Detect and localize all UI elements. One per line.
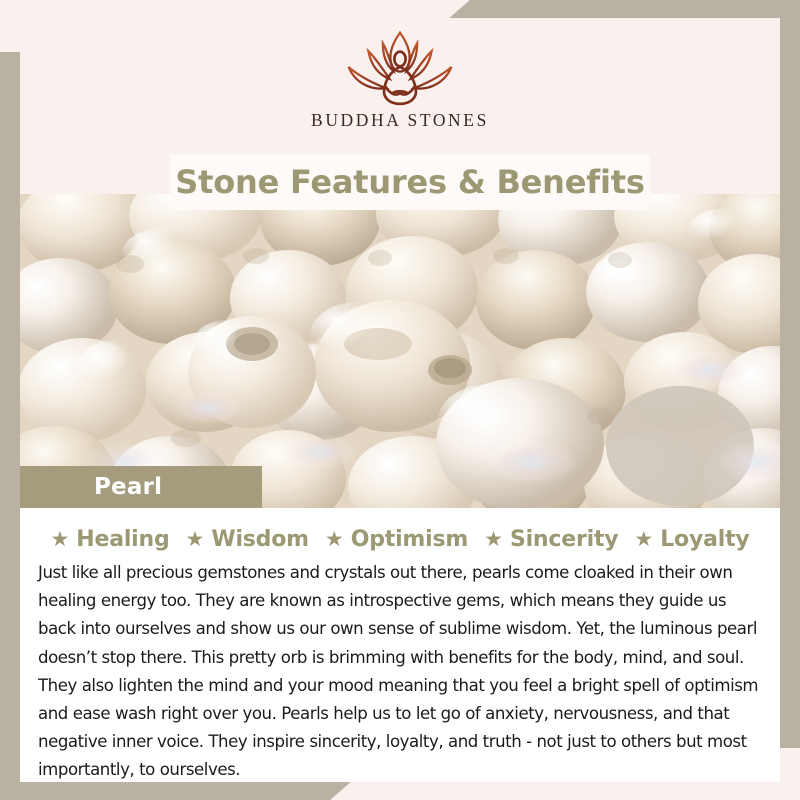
benefits-list: ★ Healing ★ Wisdom ★ Optimism ★ Sincerit… — [36, 522, 764, 556]
stone-photo: Pearl — [20, 194, 780, 508]
infographic-card: BUDDHA STONES Stone Features & Benefits — [0, 0, 800, 800]
card-body: BUDDHA STONES Stone Features & Benefits — [20, 18, 780, 782]
content-sheet: ★ Healing ★ Wisdom ★ Optimism ★ Sincerit… — [20, 508, 780, 782]
stone-description: Just like all precious gemstones and cry… — [36, 559, 764, 782]
brand-header: BUDDHA STONES — [20, 18, 780, 146]
star-icon: ★ — [50, 529, 69, 550]
benefit-item: ★ Healing — [44, 527, 175, 552]
page-title: Stone Features & Benefits — [175, 163, 644, 201]
star-icon: ★ — [634, 529, 653, 550]
page-title-plate: Stone Features & Benefits — [170, 154, 650, 210]
benefit-label: Optimism — [351, 527, 468, 552]
benefit-label: Wisdom — [211, 527, 309, 552]
stone-name: Pearl — [94, 474, 162, 500]
benefit-label: Sincerity — [510, 527, 618, 552]
star-icon: ★ — [325, 529, 344, 550]
lotus-meditation-icon — [334, 26, 466, 108]
brand-name: BUDDHA STONES — [311, 110, 489, 131]
benefit-item: ★ Wisdom — [180, 527, 315, 552]
stone-name-ribbon: Pearl — [20, 466, 262, 508]
star-icon: ★ — [484, 529, 503, 550]
benefit-item: ★ Sincerity — [478, 527, 624, 552]
star-icon: ★ — [186, 529, 205, 550]
benefit-label: Healing — [76, 527, 169, 552]
benefit-item: ★ Loyalty — [628, 527, 755, 552]
benefit-label: Loyalty — [660, 527, 749, 552]
benefit-item: ★ Optimism — [319, 527, 474, 552]
